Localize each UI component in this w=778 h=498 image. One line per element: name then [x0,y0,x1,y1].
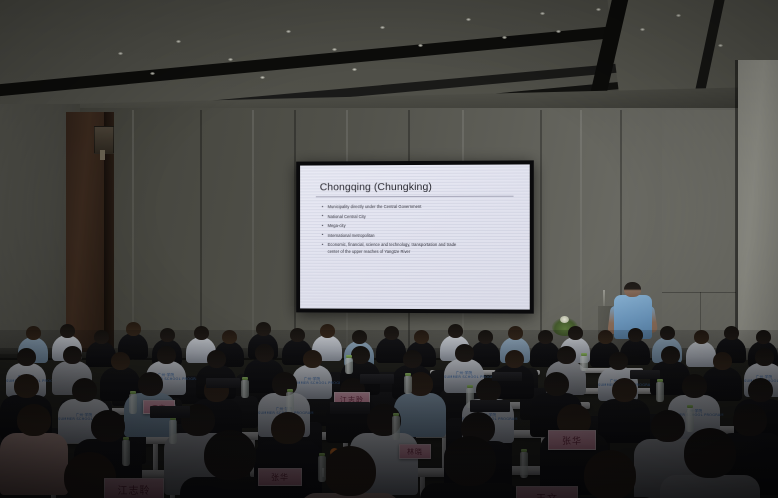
audience-member-head [612,378,637,402]
bottle-cap [319,453,325,456]
audience-member-head [713,352,732,370]
audience-member-head [384,326,399,340]
audience-member-head [476,378,501,402]
wall-seam [540,110,542,360]
audience-member-head [508,326,523,340]
name-placard: 张华 [258,468,302,486]
water-bottle [241,380,249,398]
water-bottle [318,456,326,482]
audience-member-head [194,326,209,340]
water-bottle [404,376,412,394]
slide-title-underline [316,196,514,198]
water-bottle [169,420,177,444]
downlight-icon [176,40,181,43]
projection-screen[interactable]: Chongqing (Chungking) Municipality direc… [296,160,534,313]
water-bottle [122,440,130,466]
audience-member [660,428,760,498]
downlight-icon [228,58,233,61]
downlight-icon [286,30,291,33]
flower-icon [560,316,569,323]
audience-member-head [126,322,141,336]
bottle-cap [405,373,411,376]
bottle-cap [521,449,527,452]
laptop [492,372,522,381]
laptop [330,402,370,414]
audience-member-head [17,348,36,366]
slide-bullet: Mega-city [322,223,516,230]
bottle-cap [346,355,352,358]
audience-member-head [94,330,109,344]
laptop [206,378,240,388]
water-bottle [345,358,353,374]
audience-member-head [63,346,82,364]
name-placard-text: 张华 [562,434,582,447]
name-placard-text: 王文 [536,490,558,498]
audience-member-head [444,436,496,486]
downlight-icon [556,30,561,33]
wall-seam [580,110,582,360]
audience-member-head [207,350,226,368]
laptop [630,370,660,379]
audience-member-head [204,430,256,480]
water-bottle [686,408,694,432]
audience-member-head [557,346,576,364]
downlight-icon [118,52,123,55]
speaker-mount [100,150,105,160]
audience-member-head [538,330,553,344]
presentation-slide: Chongqing (Chungking) Municipality direc… [300,164,530,309]
audience-member-head [448,324,463,338]
downlight-icon [466,18,471,21]
audience-member-head [755,348,774,366]
concrete-column [738,60,778,360]
audience-member-head [756,330,771,344]
audience-member-head [157,346,176,364]
downlight-icon [676,14,681,17]
bottle-cap [130,391,136,394]
audience-member-head [72,378,97,402]
audience-member-head [290,328,305,342]
audience-member-head [505,350,524,368]
bottle-cap [123,437,129,440]
name-placard: 王文 [516,486,578,498]
downlight-icon [380,26,385,29]
name-placard: 林晓 [399,444,431,459]
water-bottle [392,416,400,440]
bottle-cap [242,377,248,380]
audience-member-head [14,374,39,398]
audience-member [300,446,400,498]
downlight-icon [332,48,337,51]
audience-member-body [660,475,760,498]
bottle-cap [687,405,693,408]
name-placard-text: 林晓 [407,447,423,457]
audience-member-head [598,330,613,344]
audience-member-head [351,346,370,364]
audience-member-head [478,330,493,344]
slide-bullet: Economic, financial, science and technol… [322,242,516,255]
slide-bullet: Municipality directly under the Central … [322,204,516,211]
downlight-icon [352,68,357,71]
slide-bullet: National Central City [322,213,516,220]
audience-member-head [609,352,628,370]
laptop [360,374,394,384]
audience-member-head [661,346,680,364]
bottle-cap [287,389,293,392]
audience-member-head [60,324,75,338]
audience-member-head [724,326,739,340]
audience-member-head [403,350,422,368]
audience-member-head [160,328,175,342]
audience-member-head [414,330,429,344]
audience-member-head [544,372,569,396]
bottle-cap [657,379,663,382]
wall-right-horizontal-seam [662,292,736,293]
name-placard: 张华 [548,430,596,450]
audience-member-head [352,330,367,344]
audience-member-head [584,450,636,498]
audience-member-head [455,344,474,362]
audience-member-head [222,330,237,344]
audience-member-head [568,326,583,340]
bottle-cap [393,413,399,416]
downlight-icon [596,8,601,11]
bottle-cap [467,385,473,388]
downlight-icon [502,36,507,39]
bottle-cap [581,353,587,356]
audience-member-head [694,330,709,344]
audience-member-head [303,350,322,368]
audience-member-head [26,326,41,340]
slide-bullet: International metropolitan [322,233,516,239]
downlight-icon [640,28,645,31]
name-placard: 江志聆 [104,478,164,498]
laptop [150,406,190,418]
audience-member-head [682,374,707,398]
presenter-head [624,282,641,297]
slide-bullet-list: Municipality directly under the Central … [322,204,516,256]
downlight-icon [718,44,723,47]
downlight-icon [418,44,423,47]
audience-member-head [255,344,274,362]
slide-title: Chongqing (Chungking) [320,181,516,194]
lecture-hall-photo: Chongqing (Chungking) Municipality direc… [0,0,778,498]
audience-member [180,430,280,498]
audience-member-head [91,410,125,442]
audience-member-head [684,428,736,478]
water-bottle [580,356,588,371]
audience-member-head [628,328,643,342]
water-bottle [520,452,528,478]
laptop [470,400,510,412]
wall-right-section [662,110,736,360]
downlight-icon [260,76,265,79]
wall-seam [200,110,202,360]
water-bottle [286,392,294,412]
audience-member [420,436,520,498]
audience-member-head [748,378,773,402]
audience-member-head [138,372,163,396]
audience-member-head [660,326,675,340]
audience-member-head [17,404,51,436]
water-bottle [129,394,137,414]
audience-member-head [320,324,335,338]
downlight-icon [150,72,155,75]
audience-member-head [111,352,130,370]
downlight-icon [540,12,545,15]
name-placard-text: 江志聆 [118,482,151,497]
audience-member-head [256,322,271,336]
water-bottle [656,382,664,402]
audience-member-head [324,446,376,496]
name-placard-text: 张华 [271,472,289,483]
